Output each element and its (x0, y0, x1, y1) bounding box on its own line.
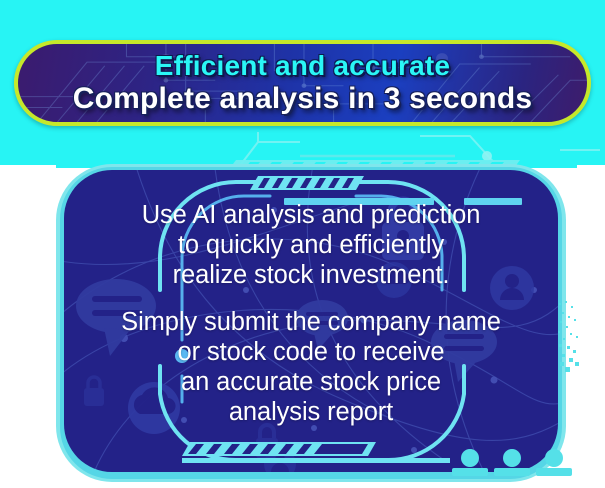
banner-text-group: Efficient and accurate Complete analysis… (18, 44, 587, 122)
paragraph-2-line-4: analysis report (121, 397, 501, 427)
content-panel: Use AI analysis and prediction to quickl… (64, 170, 558, 472)
paragraph-2: Simply submit the company name or stock … (121, 307, 501, 427)
banner-line-2: Complete analysis in 3 seconds (73, 82, 533, 115)
paragraph-1-line-2: to quickly and efficiently (142, 230, 481, 260)
content-panel-wrapper: Use AI analysis and prediction to quickl… (56, 160, 566, 482)
banner-line-1: Efficient and accurate (155, 51, 450, 80)
left-white-margin (0, 165, 56, 488)
paragraph-2-line-1: Simply submit the company name (121, 307, 501, 337)
paragraph-2-line-2: or stock code to receive (121, 337, 501, 367)
paragraph-1-line-1: Use AI analysis and prediction (142, 200, 481, 230)
paragraph-1: Use AI analysis and prediction to quickl… (142, 200, 481, 290)
promo-banner-card: Efficient and accurate Complete analysis… (0, 0, 605, 488)
panel-copy: Use AI analysis and prediction to quickl… (64, 170, 558, 472)
headline-banner: Efficient and accurate Complete analysis… (14, 40, 591, 126)
bottom-white-margin (0, 482, 605, 488)
paragraph-1-line-3: realize stock investment. (142, 260, 481, 290)
paragraph-2-line-3: an accurate stock price (121, 367, 501, 397)
dither-noise-decoration (557, 300, 583, 372)
